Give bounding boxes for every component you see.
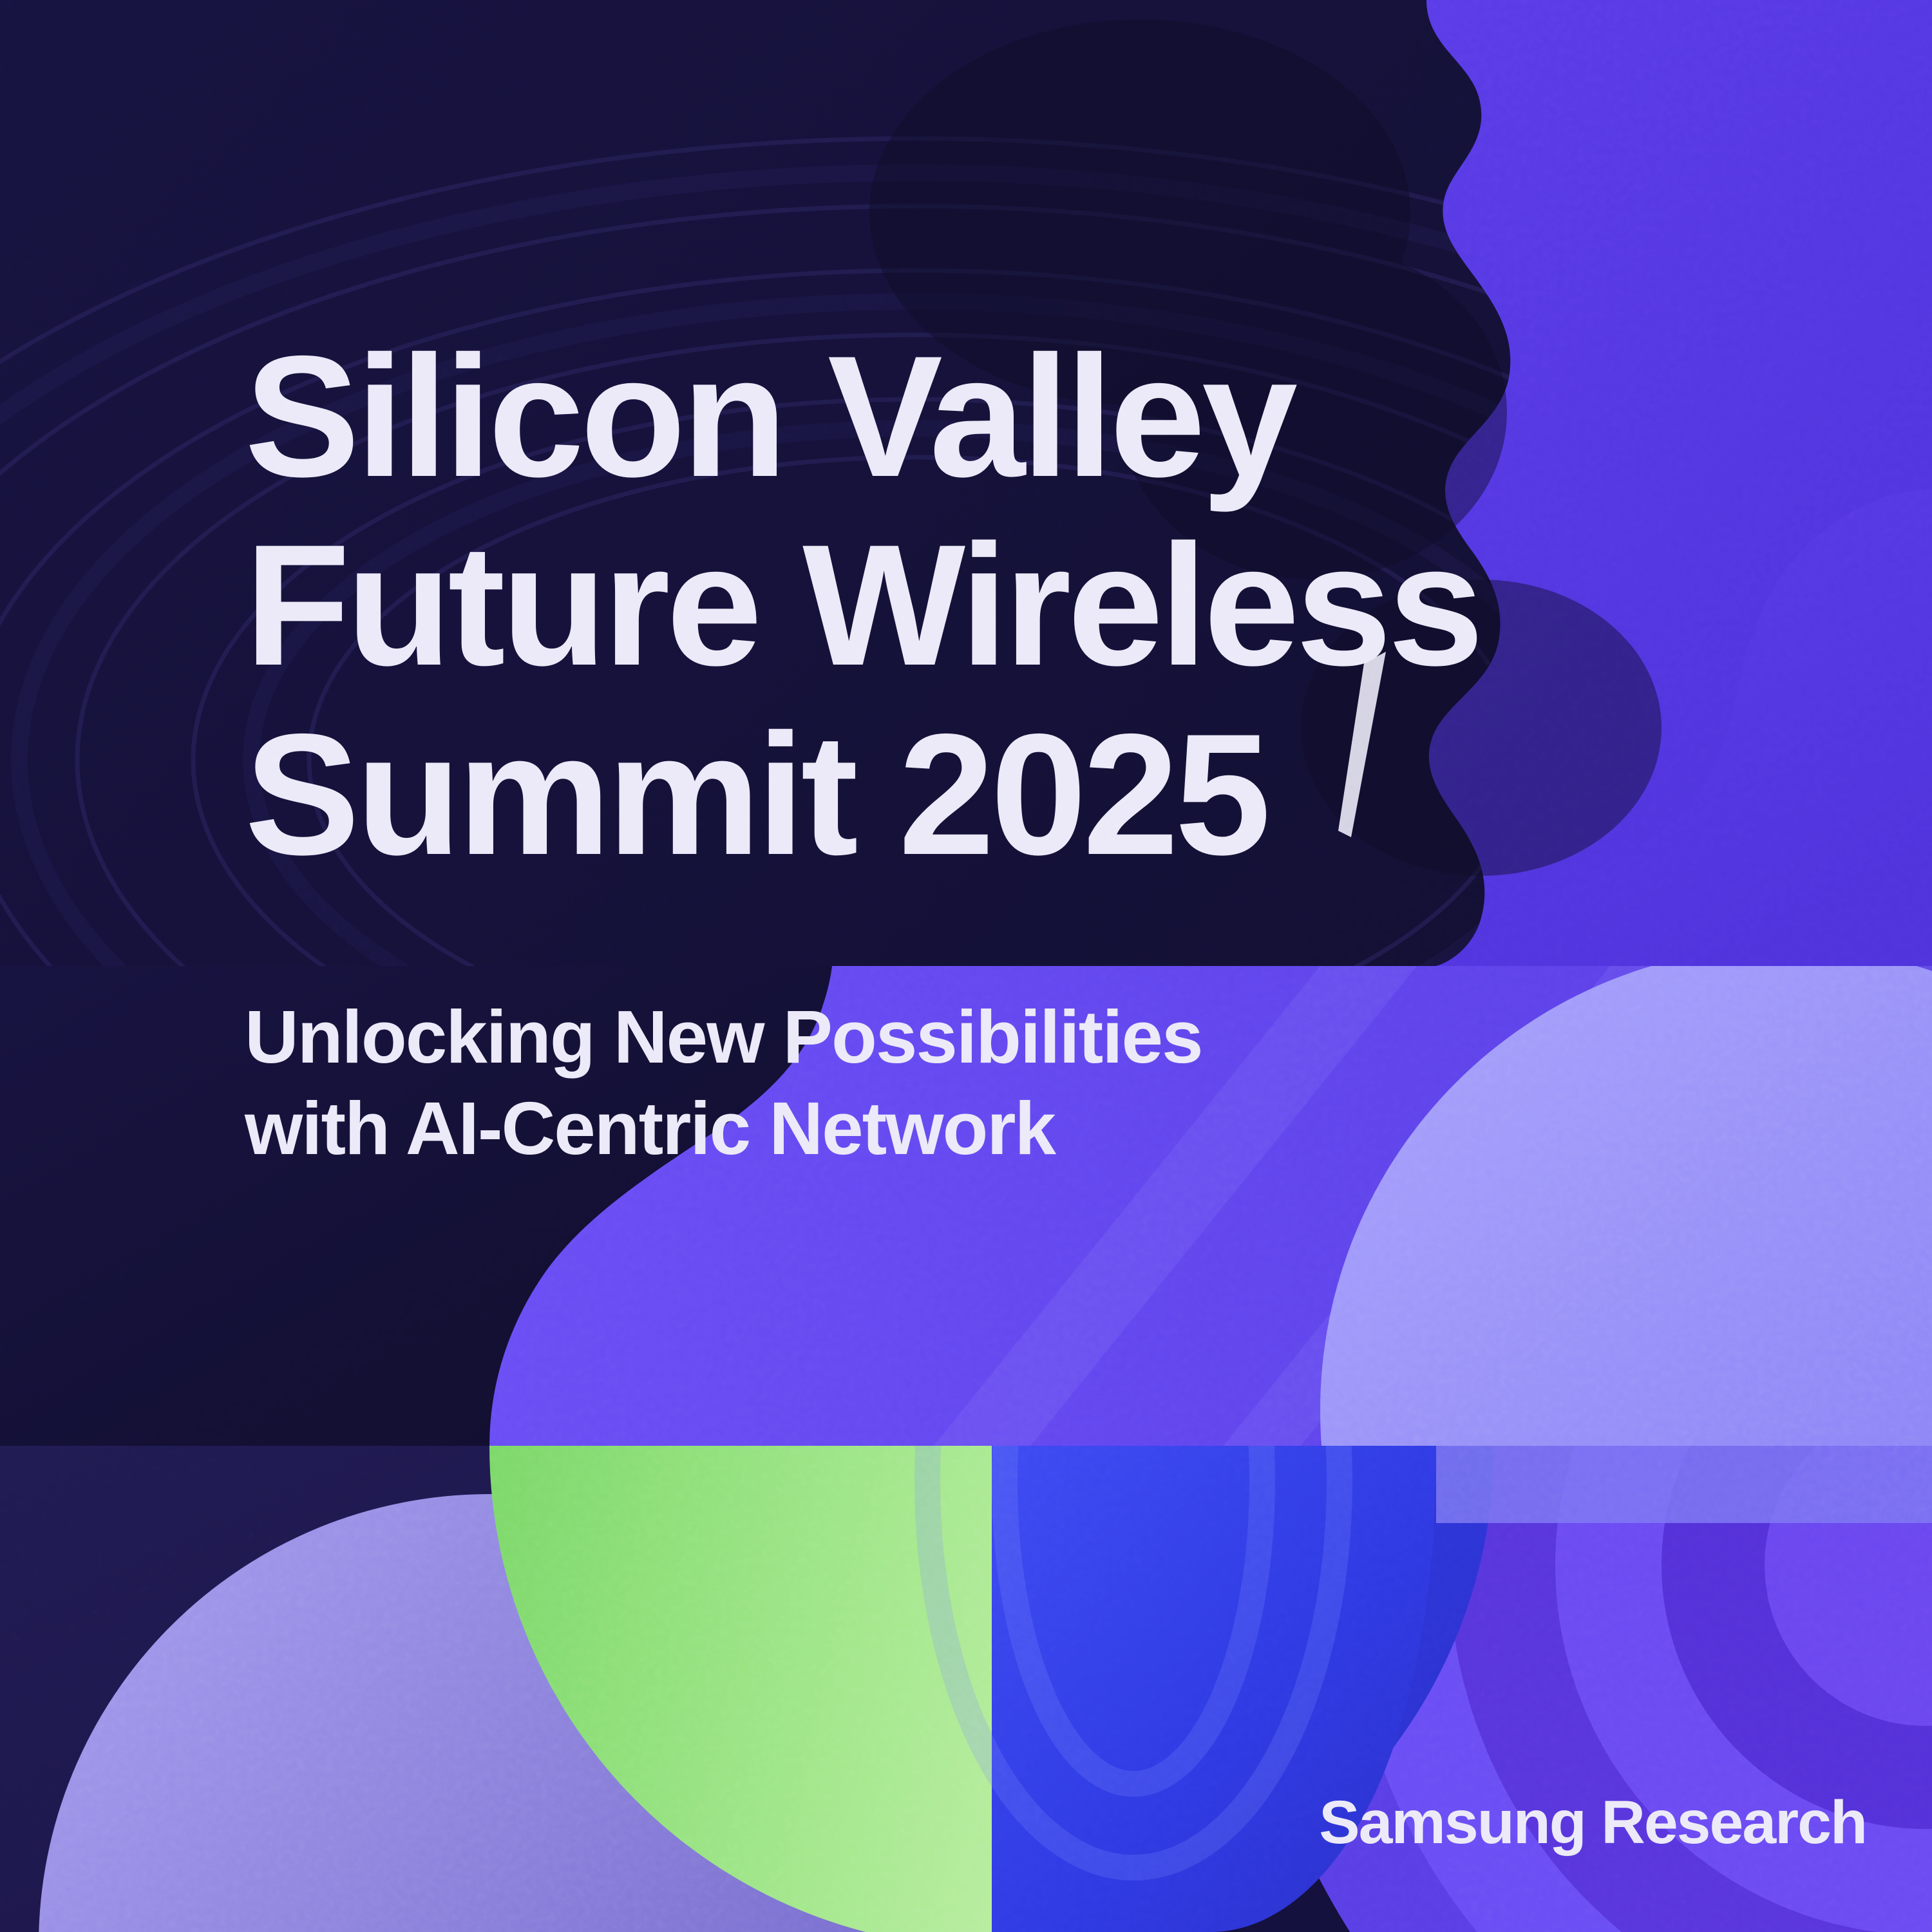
brand-wordmark: Samsung Research bbox=[1319, 1792, 1866, 1853]
page-title: Silicon Valley Future Wireless Summit 20… bbox=[245, 322, 1726, 889]
poster-canvas: Silicon Valley Future Wireless Summit 20… bbox=[0, 0, 1932, 1932]
lilac-sliver bbox=[1436, 1446, 1932, 1523]
text-block: Silicon Valley Future Wireless Summit 20… bbox=[245, 322, 1726, 1174]
page-subtitle: Unlocking New Possibilities with AI-Cent… bbox=[245, 889, 1726, 1174]
